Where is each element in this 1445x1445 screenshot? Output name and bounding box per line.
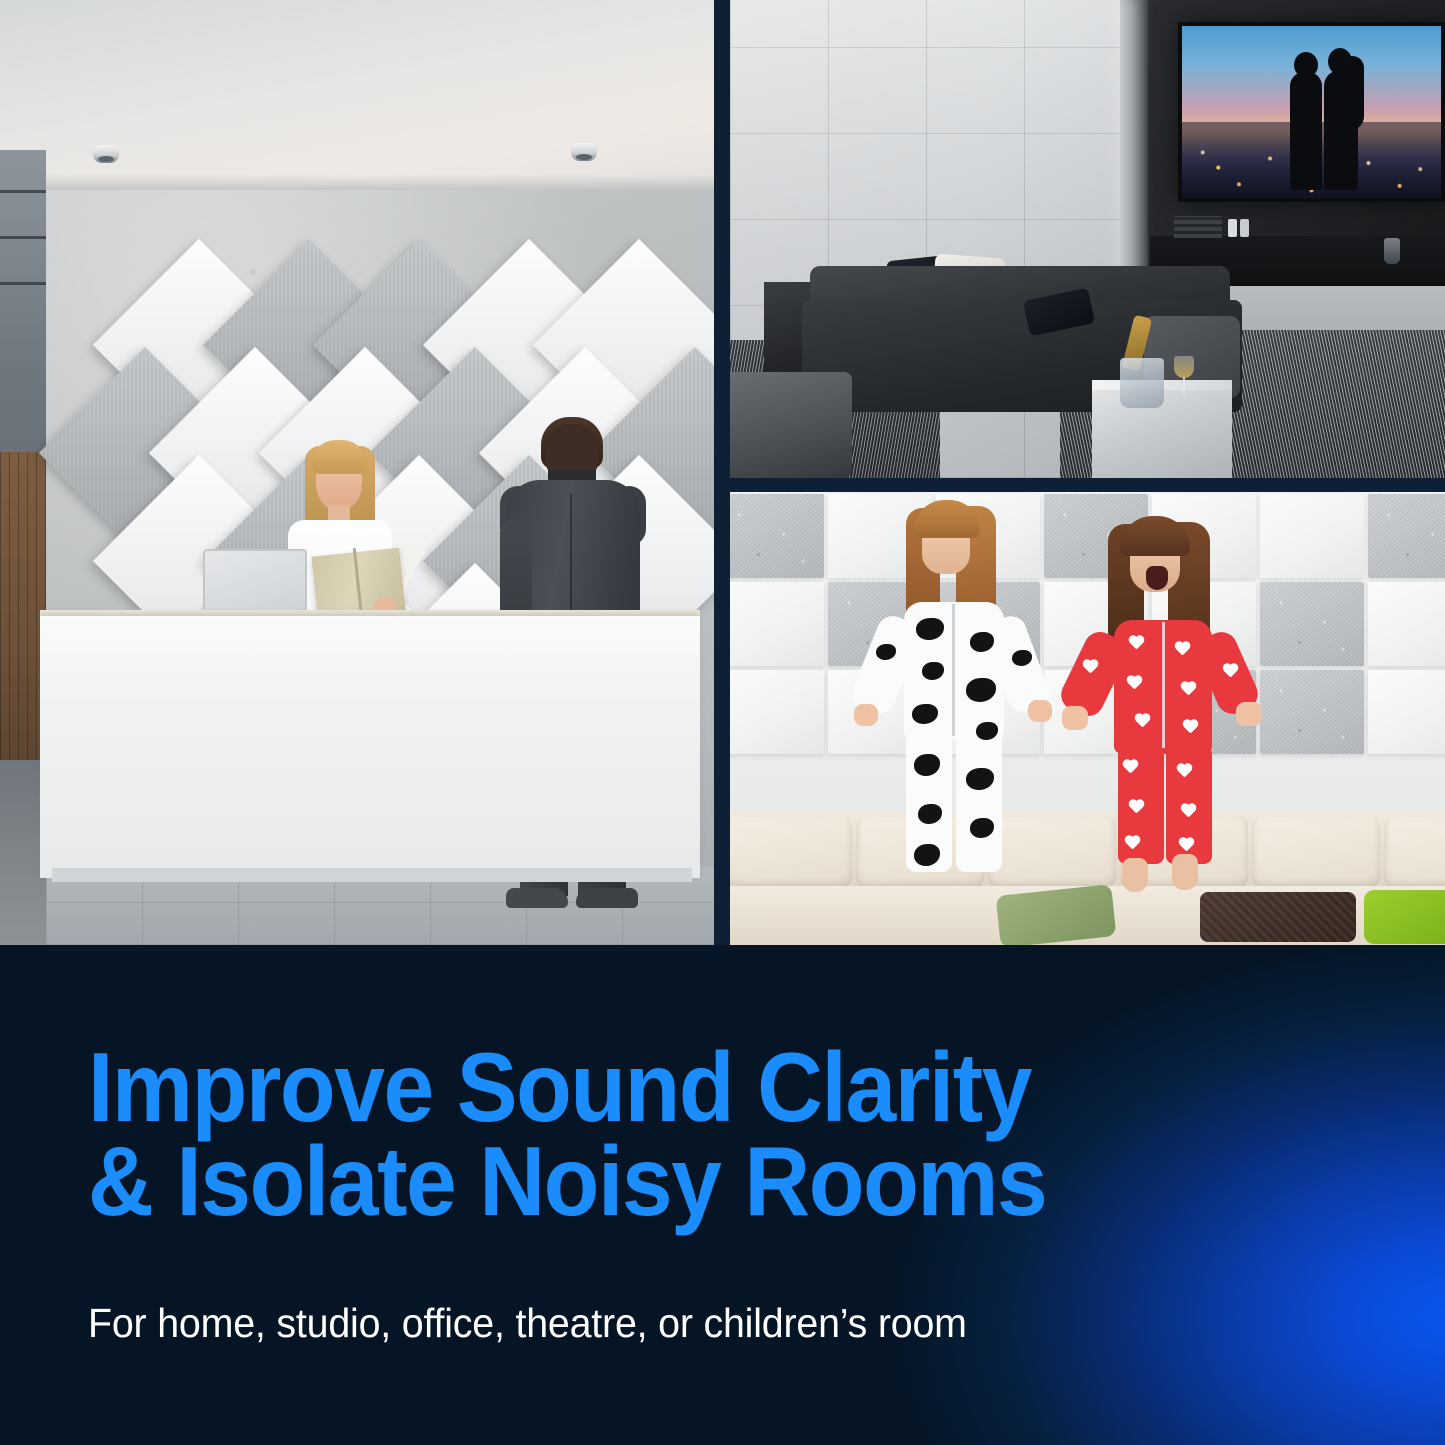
silhouette-man [1290,72,1322,190]
projection-screen [1178,22,1445,202]
cushion-green [996,884,1117,945]
ceiling-spotlight-icon [571,143,597,161]
panel-home-theater [730,0,1445,478]
cushion-brown [1200,892,1356,942]
remote-control-icon [1228,219,1237,237]
office-ceiling [0,0,714,196]
stacked-books [1174,216,1222,238]
silhouette-woman [1324,70,1358,190]
reception-desk [40,616,700,878]
panel-office-reception [0,0,714,945]
remote-control-icon [1240,219,1249,237]
page-title: Improve Sound Clarity & Isolate Noisy Ro… [88,1040,1223,1228]
ice-bucket [1120,358,1164,408]
wine-glass [1174,356,1194,396]
ceiling-spotlight-icon [93,145,119,163]
image-collage [0,0,1445,945]
panel-children-room [730,492,1445,945]
product-feature-poster: Improve Sound Clarity & Isolate Noisy Ro… [0,0,1445,1445]
cushion-lime [1364,890,1445,944]
ottoman [730,372,852,478]
page-subtitle: For home, studio, office, theatre, or ch… [88,1300,1259,1347]
glass-vase [1384,238,1400,264]
